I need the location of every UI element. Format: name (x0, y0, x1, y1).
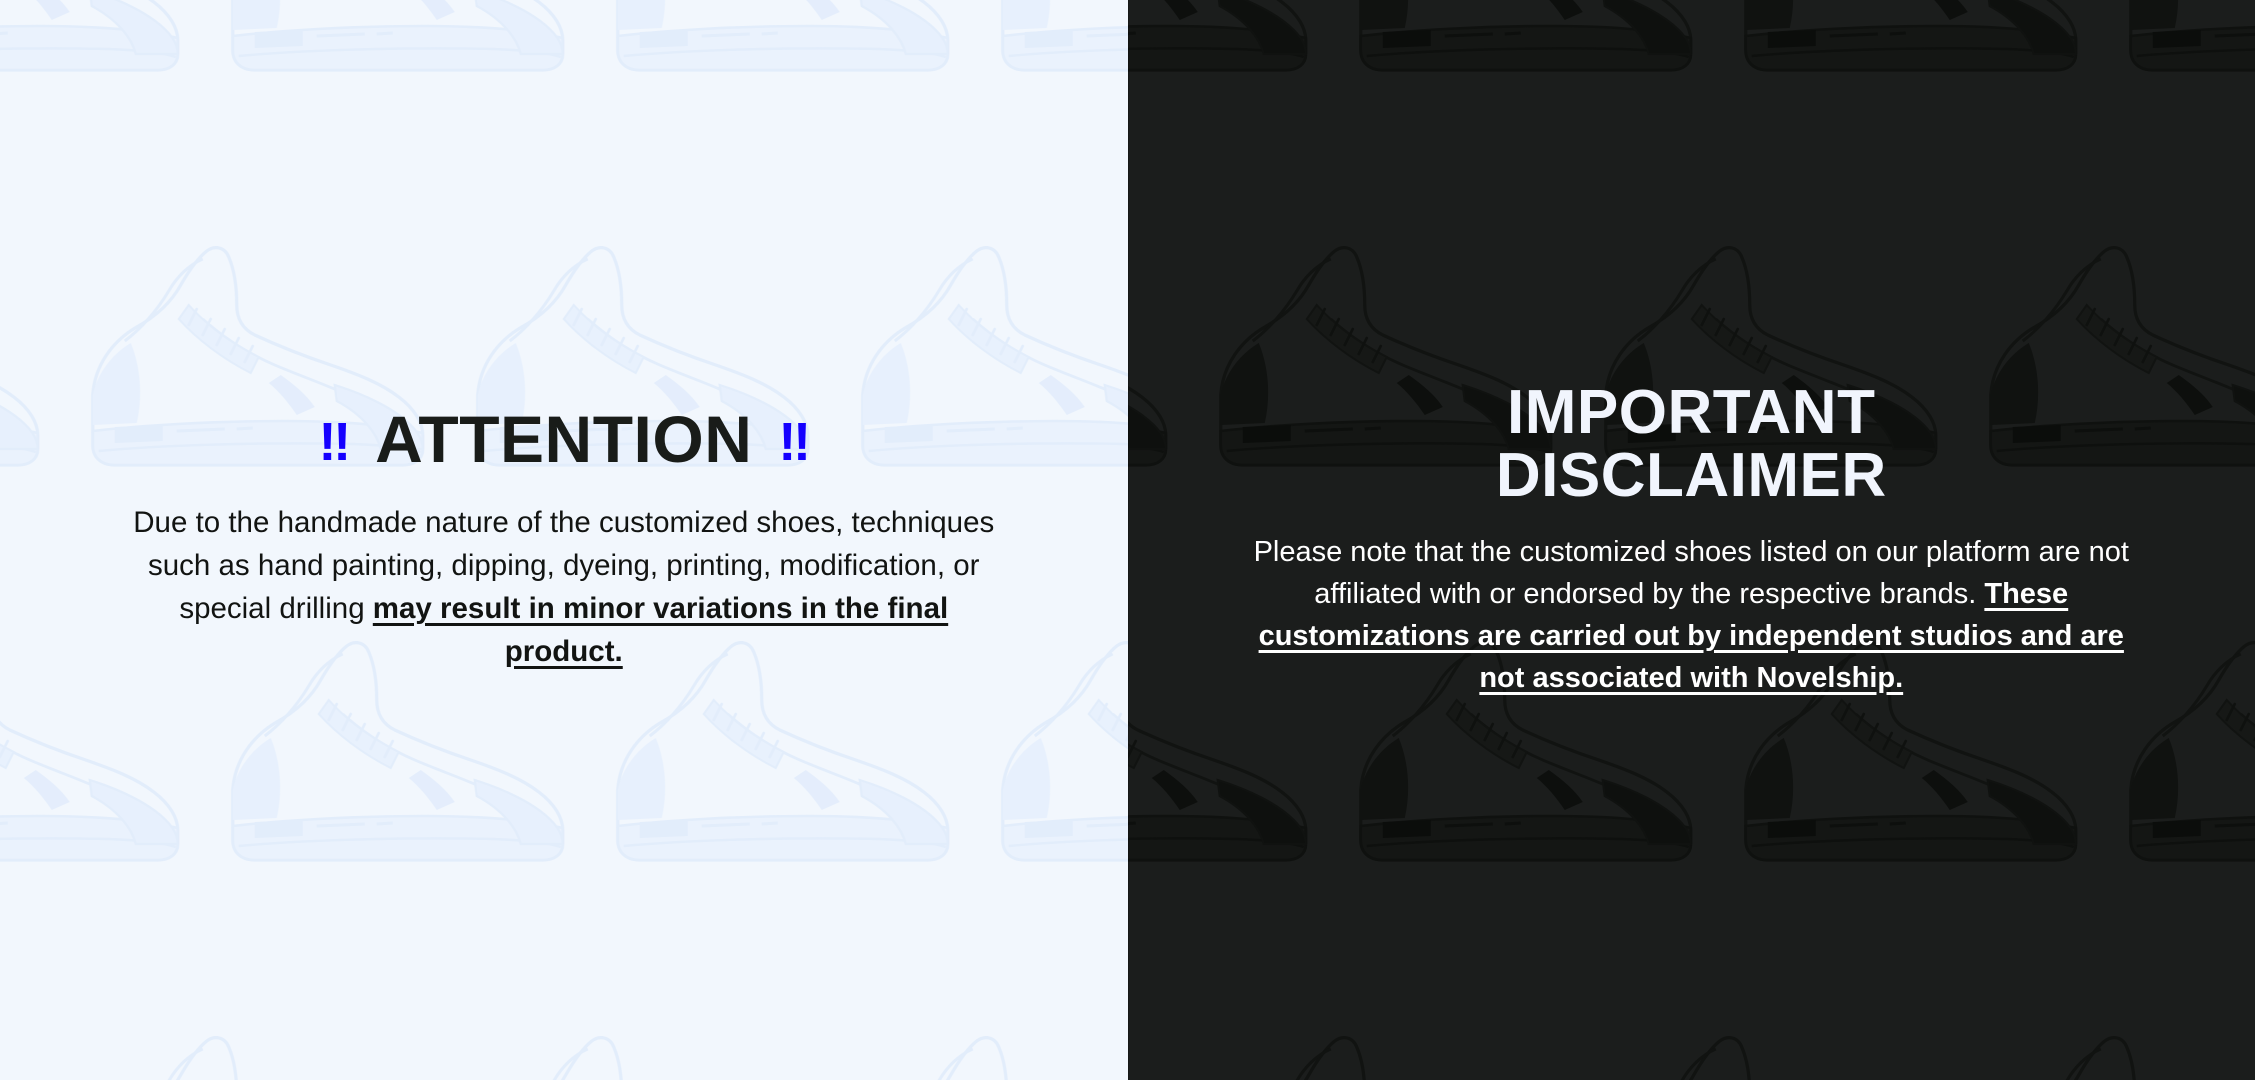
double-exclamation-icon-left: ‼ (319, 412, 350, 472)
attention-heading-text: ATTENTION (375, 402, 752, 476)
attention-body-emphasis: may result in minor variations in the fi… (373, 592, 948, 668)
disclaimer-panel: IMPORTANT DISCLAIMER Please note that th… (1128, 0, 2255, 1080)
attention-content: ‼ATTENTION‼ Due to the handmade nature o… (0, 406, 1128, 673)
attention-body: Due to the handmade nature of the custom… (120, 502, 1008, 673)
disclaimer-heading-line2: DISCLAIMER (1496, 441, 1887, 510)
disclaimer-heading: IMPORTANT DISCLAIMER (1238, 381, 2146, 507)
disclaimer-body: Please note that the customized shoes li… (1238, 531, 2146, 699)
disclaimer-content: IMPORTANT DISCLAIMER Please note that th… (1128, 381, 2255, 700)
disclaimer-heading-line1: IMPORTANT (1507, 378, 1875, 447)
double-exclamation-icon-right: ‼ (778, 412, 809, 472)
attention-heading: ‼ATTENTION‼ (120, 406, 1008, 472)
attention-panel: ‼ATTENTION‼ Due to the handmade nature o… (0, 0, 1128, 1080)
disclaimer-banner: ‼ATTENTION‼ Due to the handmade nature o… (0, 0, 2255, 1080)
panel-divider (1128, 0, 1129, 1080)
